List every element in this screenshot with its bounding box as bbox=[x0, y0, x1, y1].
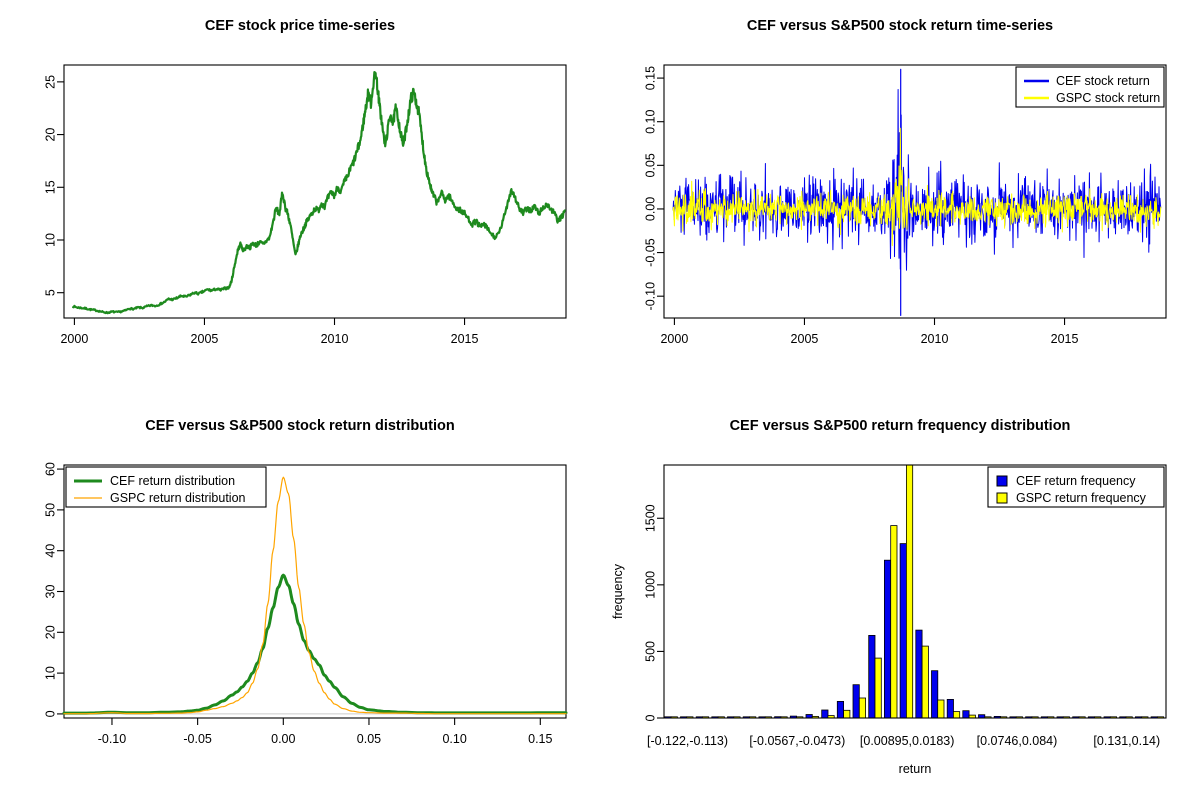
svg-text:[-0.0567,-0.0473): [-0.0567,-0.0473) bbox=[749, 734, 845, 748]
svg-text:return: return bbox=[899, 762, 932, 776]
returns-timeseries-chart: CEF versus S&P500 stock return time-seri… bbox=[600, 0, 1200, 400]
svg-text:2000: 2000 bbox=[660, 332, 688, 346]
svg-text:60: 60 bbox=[43, 462, 57, 476]
svg-text:20: 20 bbox=[43, 625, 57, 639]
svg-text:frequency: frequency bbox=[611, 563, 625, 619]
svg-text:2005: 2005 bbox=[791, 332, 819, 346]
svg-text:0.15: 0.15 bbox=[643, 66, 657, 90]
svg-text:500: 500 bbox=[643, 641, 657, 662]
chart-title-return-density: CEF versus S&P500 stock return distribut… bbox=[145, 418, 454, 434]
return-frequency-chart: CEF versus S&P500 return frequency distr… bbox=[600, 400, 1200, 800]
svg-text:2010: 2010 bbox=[921, 332, 949, 346]
svg-text:-0.10: -0.10 bbox=[643, 282, 657, 311]
chart-title-returns-timeseries: CEF versus S&P500 stock return time-seri… bbox=[747, 18, 1053, 34]
cef-price-chart: CEF stock price time-series 200020052010… bbox=[0, 0, 600, 400]
svg-text:CEF stock return: CEF stock return bbox=[1056, 74, 1150, 88]
return-density-chart: CEF versus S&P500 stock return distribut… bbox=[0, 400, 600, 800]
panel-return-density: CEF versus S&P500 stock return distribut… bbox=[0, 400, 600, 800]
svg-text:[-0.122,-0.113): [-0.122,-0.113) bbox=[647, 734, 728, 748]
svg-text:GSPC return distribution: GSPC return distribution bbox=[110, 491, 246, 505]
svg-text:2010: 2010 bbox=[321, 332, 349, 346]
svg-text:CEF return frequency: CEF return frequency bbox=[1016, 474, 1136, 488]
panel-cef-price: CEF stock price time-series 200020052010… bbox=[0, 0, 600, 400]
svg-text:0.05: 0.05 bbox=[643, 153, 657, 177]
svg-text:2005: 2005 bbox=[191, 332, 219, 346]
svg-text:GSPC return frequency: GSPC return frequency bbox=[1016, 491, 1147, 505]
svg-text:25: 25 bbox=[43, 75, 57, 89]
svg-text:0.05: 0.05 bbox=[357, 732, 381, 746]
svg-text:-0.10: -0.10 bbox=[98, 732, 127, 746]
svg-text:50: 50 bbox=[43, 503, 57, 517]
svg-text:5: 5 bbox=[43, 289, 57, 296]
chart-title-return-frequency: CEF versus S&P500 return frequency distr… bbox=[730, 418, 1071, 434]
svg-text:[0.00895,0.0183): [0.00895,0.0183) bbox=[860, 734, 955, 748]
svg-text:10: 10 bbox=[43, 233, 57, 247]
panel-returns-timeseries: CEF versus S&P500 stock return time-seri… bbox=[600, 0, 1200, 400]
svg-text:10: 10 bbox=[43, 666, 57, 680]
svg-text:0: 0 bbox=[43, 710, 57, 717]
svg-text:0.15: 0.15 bbox=[528, 732, 552, 746]
chart-title-cef-price: CEF stock price time-series bbox=[205, 18, 395, 34]
svg-text:0: 0 bbox=[643, 714, 657, 721]
svg-text:0.00: 0.00 bbox=[643, 197, 657, 221]
svg-text:2015: 2015 bbox=[451, 332, 479, 346]
svg-text:1500: 1500 bbox=[643, 504, 657, 532]
svg-text:GSPC stock return: GSPC stock return bbox=[1056, 91, 1160, 105]
svg-text:40: 40 bbox=[43, 544, 57, 558]
svg-text:2000: 2000 bbox=[60, 332, 88, 346]
svg-text:CEF return distribution: CEF return distribution bbox=[110, 474, 235, 488]
svg-text:0.10: 0.10 bbox=[442, 732, 466, 746]
svg-text:[0.0746,0.084): [0.0746,0.084) bbox=[977, 734, 1058, 748]
panel-return-frequency: CEF versus S&P500 return frequency distr… bbox=[600, 400, 1200, 800]
figure-grid: CEF stock price time-series 200020052010… bbox=[0, 0, 1200, 800]
svg-text:0.00: 0.00 bbox=[271, 732, 295, 746]
svg-text:1000: 1000 bbox=[643, 571, 657, 599]
svg-text:20: 20 bbox=[43, 128, 57, 142]
svg-text:30: 30 bbox=[43, 585, 57, 599]
svg-text:-0.05: -0.05 bbox=[643, 238, 657, 267]
svg-text:0.10: 0.10 bbox=[643, 110, 657, 134]
svg-text:-0.05: -0.05 bbox=[183, 732, 212, 746]
svg-text:15: 15 bbox=[43, 180, 57, 194]
svg-text:[0.131,0.14): [0.131,0.14) bbox=[1093, 734, 1160, 748]
svg-text:2015: 2015 bbox=[1051, 332, 1079, 346]
